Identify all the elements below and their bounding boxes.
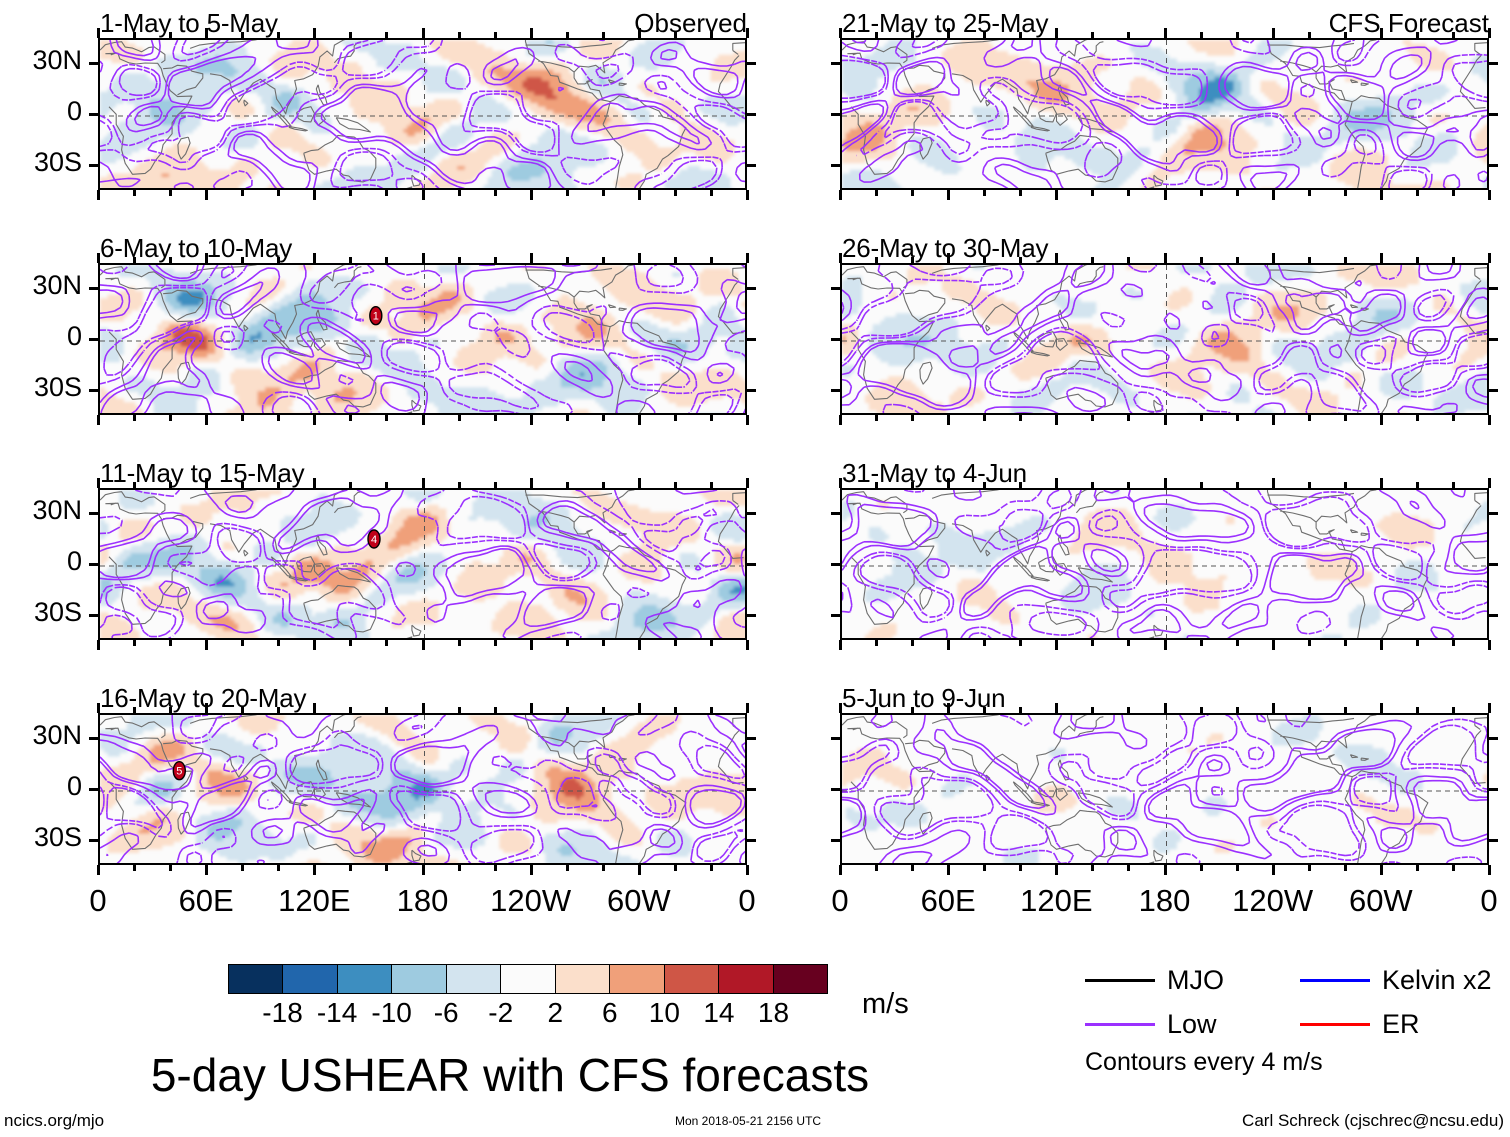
x-axis-tick-label: 0 bbox=[1434, 883, 1510, 919]
x-axis-tick-top bbox=[1019, 707, 1022, 713]
x-axis-tick-top bbox=[1127, 707, 1130, 713]
colorbar-tick-label: -18 bbox=[253, 997, 313, 1029]
x-axis-tick-bottom bbox=[1055, 865, 1058, 875]
colorbar-cell bbox=[392, 965, 446, 993]
map-field-graphic bbox=[842, 715, 1489, 865]
x-axis-tick-top bbox=[875, 707, 878, 713]
main-title: 5-day USHEAR with CFS forecasts bbox=[0, 1048, 1020, 1102]
x-axis-tick-bottom bbox=[1272, 865, 1275, 875]
y-axis-tick-right bbox=[1489, 839, 1498, 842]
footer-author-contact[interactable]: Carl Schreck (cjschrec@ncsu.edu) bbox=[1242, 1111, 1504, 1131]
figure-canvas: 1-May to 5-MayObserved30N030S6-May to 10… bbox=[0, 0, 1510, 1137]
colorbar-cell bbox=[501, 965, 555, 993]
x-axis-tick-top bbox=[1452, 707, 1455, 713]
x-axis-tick-bottom bbox=[1164, 865, 1167, 875]
x-axis-tick-bottom bbox=[1452, 865, 1455, 871]
x-axis-tick-label: 120W bbox=[1218, 883, 1328, 919]
x-axis-tick-bottom bbox=[1344, 865, 1347, 871]
x-axis-tick-bottom bbox=[1488, 865, 1491, 875]
x-axis-tick-label: 60W bbox=[1326, 883, 1436, 919]
x-axis-tick-label: 180 bbox=[1110, 883, 1220, 919]
map-plot-area[interactable] bbox=[840, 713, 1489, 865]
legend-item-er: ER bbox=[1300, 1009, 1420, 1040]
x-axis-tick-top bbox=[1344, 707, 1347, 713]
colorbar-tick-label: -6 bbox=[416, 997, 476, 1029]
y-axis-tick bbox=[831, 737, 840, 740]
x-axis-tick-bottom bbox=[1236, 865, 1239, 871]
colorbar-cell bbox=[556, 965, 610, 993]
x-axis-tick-bottom bbox=[1308, 865, 1311, 871]
x-axis-tick-top bbox=[1164, 703, 1167, 713]
legend-item-mjo: MJO bbox=[1085, 965, 1224, 996]
x-axis-tick-top bbox=[983, 707, 986, 713]
x-axis-tick-top bbox=[911, 707, 914, 713]
colorbar-cell bbox=[338, 965, 392, 993]
colorbar-cell bbox=[665, 965, 719, 993]
legend-label: ER bbox=[1382, 1009, 1420, 1040]
contour-interval-note: Contours every 4 m/s bbox=[1085, 1048, 1323, 1077]
x-axis-tick-bottom bbox=[983, 865, 986, 871]
colorbar-tick-label: 2 bbox=[525, 997, 585, 1029]
x-axis-tick-top bbox=[1308, 707, 1311, 713]
x-axis-tick-bottom bbox=[1380, 865, 1383, 875]
x-axis-tick-label: 0 bbox=[785, 883, 895, 919]
colorbar-cell bbox=[774, 965, 827, 993]
legend-item-kelvin-x2: Kelvin x2 bbox=[1300, 965, 1492, 996]
footer-timestamp: Mon 2018-05-21 2156 UTC bbox=[675, 1114, 821, 1128]
x-axis-tick-bottom bbox=[1416, 865, 1419, 871]
x-axis-tick-top bbox=[839, 703, 842, 713]
colorbar bbox=[228, 964, 828, 994]
x-axis-tick-bottom bbox=[911, 865, 914, 871]
y-axis-tick-right bbox=[1489, 788, 1498, 791]
legend-line-swatch bbox=[1300, 1023, 1370, 1026]
colorbar-units-label: m/s bbox=[862, 988, 909, 1021]
legend-line-swatch bbox=[1085, 979, 1155, 982]
x-axis-tick-top bbox=[1091, 707, 1094, 713]
x-axis-tick-top bbox=[947, 703, 950, 713]
legend-line-swatch bbox=[1085, 1023, 1155, 1026]
colorbar-cell bbox=[283, 965, 337, 993]
x-axis-tick-top bbox=[1055, 703, 1058, 713]
legend-label: Kelvin x2 bbox=[1382, 965, 1492, 996]
colorbar-cell bbox=[610, 965, 664, 993]
colorbar-cell bbox=[447, 965, 501, 993]
x-axis-tick-top bbox=[1236, 707, 1239, 713]
legend-item-low: Low bbox=[1085, 1009, 1217, 1040]
colorbar-tick-label: 6 bbox=[580, 997, 640, 1029]
x-axis-tick-bottom bbox=[1127, 865, 1130, 871]
colorbar-tick-label: 18 bbox=[743, 997, 803, 1029]
colorbar-tick-label: -2 bbox=[471, 997, 531, 1029]
colorbar-cell bbox=[719, 965, 773, 993]
legend-label: Low bbox=[1167, 1009, 1217, 1040]
x-axis-tick-top bbox=[1488, 703, 1491, 713]
legend-line-swatch bbox=[1300, 979, 1370, 982]
x-axis-tick-bottom bbox=[839, 865, 842, 875]
colorbar-tick-label: -14 bbox=[307, 997, 367, 1029]
y-axis-tick-right bbox=[1489, 737, 1498, 740]
x-axis-tick-top bbox=[1200, 707, 1203, 713]
y-axis-tick bbox=[831, 788, 840, 791]
colorbar-tick-label: 14 bbox=[689, 997, 749, 1029]
colorbar-cell bbox=[229, 965, 283, 993]
x-axis-tick-top bbox=[1272, 703, 1275, 713]
x-axis-tick-bottom bbox=[947, 865, 950, 875]
x-axis-tick-label: 60E bbox=[893, 883, 1003, 919]
panel-title: 5-Jun to 9-Jun bbox=[842, 683, 1005, 714]
x-axis-tick-top bbox=[1416, 707, 1419, 713]
footer-source-link[interactable]: ncics.org/mjo bbox=[4, 1111, 104, 1131]
x-axis-tick-bottom bbox=[1200, 865, 1203, 871]
x-axis-tick-bottom bbox=[1091, 865, 1094, 871]
x-axis-tick-bottom bbox=[1019, 865, 1022, 871]
legend-label: MJO bbox=[1167, 965, 1224, 996]
x-axis-tick-bottom bbox=[875, 865, 878, 871]
y-axis-tick bbox=[831, 839, 840, 842]
x-axis-tick-label: 120E bbox=[1001, 883, 1111, 919]
x-axis-tick-top bbox=[1380, 703, 1383, 713]
colorbar-tick-label: 10 bbox=[634, 997, 694, 1029]
colorbar-tick-label: -10 bbox=[362, 997, 422, 1029]
